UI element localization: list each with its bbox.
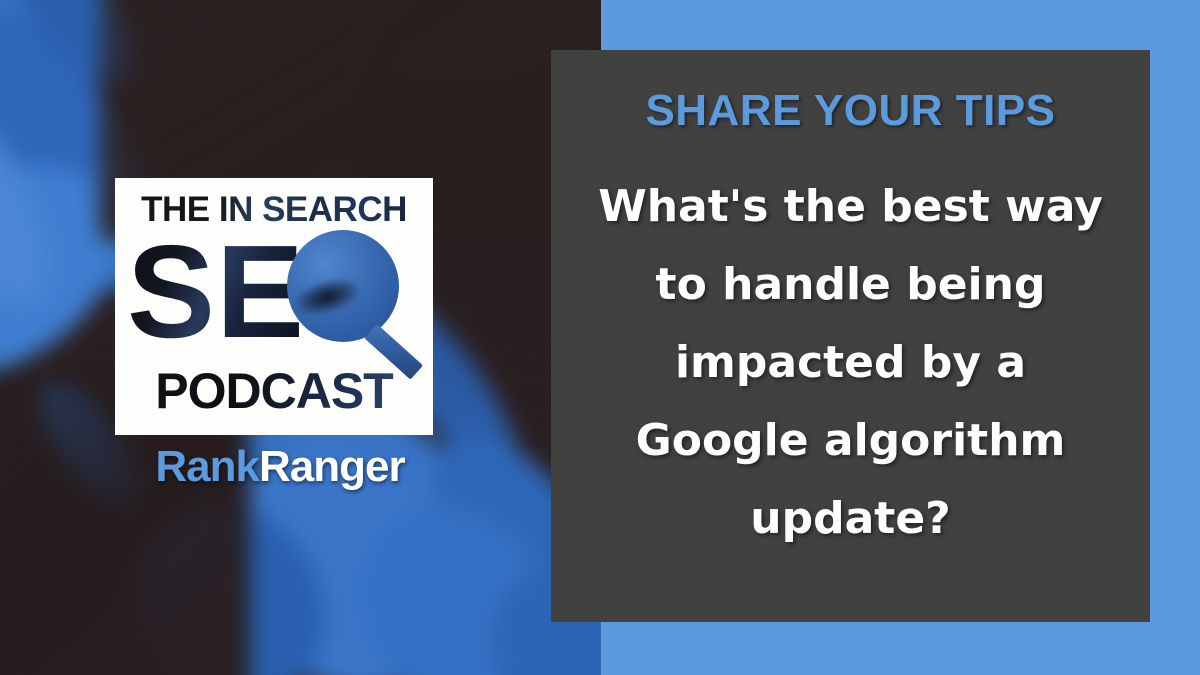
question-line-1: What's the best way bbox=[585, 168, 1116, 246]
question-line-2: to handle being bbox=[585, 246, 1116, 324]
logo-letters-se: SE bbox=[127, 216, 305, 367]
brand-word-ranger: Ranger bbox=[259, 442, 405, 491]
logo-seq-row: SE bbox=[115, 230, 433, 350]
brand-wordmark: RankRanger bbox=[115, 442, 445, 492]
question-line-4: Google algorithm bbox=[585, 402, 1116, 480]
podcast-promo-graphic: SHARE YOUR TIPS What's the best way to h… bbox=[0, 0, 1200, 675]
logo-line-podcast: PODCAST bbox=[115, 362, 433, 420]
question-line-5: update? bbox=[585, 480, 1116, 558]
panel-kicker: SHARE YOUR TIPS bbox=[551, 86, 1150, 136]
brand-word-rank: Rank bbox=[155, 442, 259, 491]
question-line-3: impacted by a bbox=[585, 324, 1116, 402]
question-text: What's the best way to handle being impa… bbox=[585, 168, 1116, 558]
podcast-logo-card: THE IN SEARCH SE PODCAST bbox=[115, 178, 433, 435]
magnifying-glass-icon bbox=[287, 230, 399, 342]
content-panel: SHARE YOUR TIPS What's the best way to h… bbox=[551, 50, 1150, 622]
